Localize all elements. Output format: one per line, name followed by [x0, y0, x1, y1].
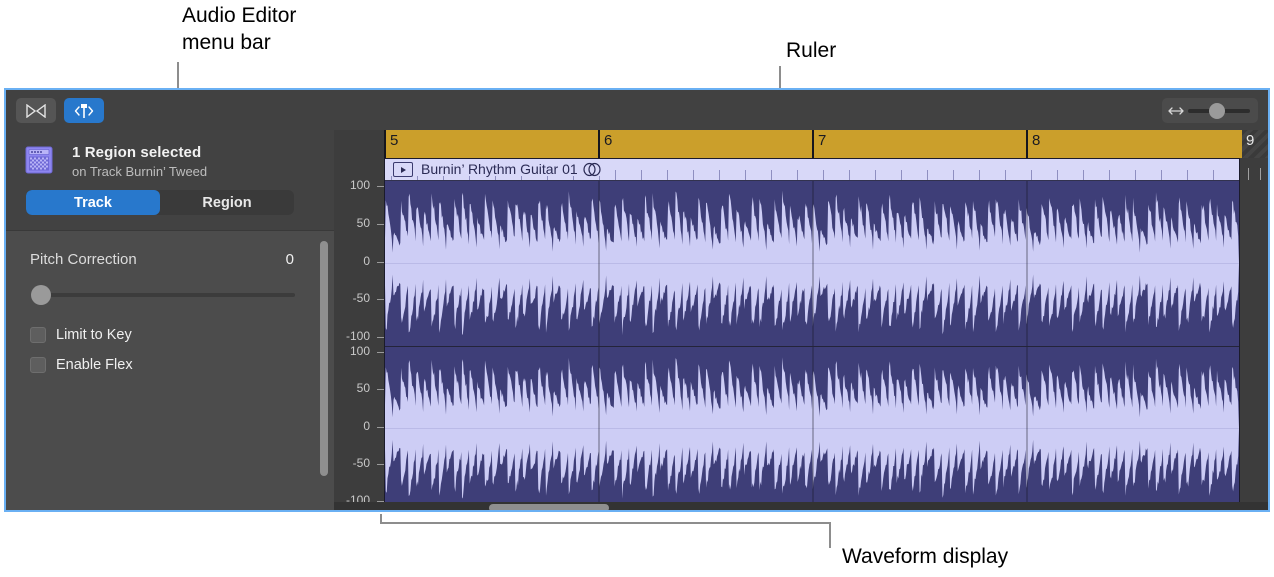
region-header-tick: [875, 170, 876, 181]
enable-flex-checkbox[interactable]: [30, 357, 46, 373]
callout-ruler: Ruler: [786, 37, 836, 64]
horizontal-scrollbar-thumb[interactable]: [489, 504, 609, 512]
region-header-tick: [693, 170, 694, 181]
amplitude-tick-mark: [377, 337, 384, 338]
ruler-bar-number: 5: [390, 132, 398, 149]
waveform-display: 56789 100500-50-100100500-50-100 Burnin’…: [334, 130, 1268, 512]
limit-to-key-row[interactable]: Limit to Key: [30, 327, 132, 343]
ruler-bar-number: 9: [1246, 132, 1254, 149]
tick-mark: [1248, 168, 1249, 180]
amplitude-tick-mark: [377, 262, 384, 263]
region-header-tick: [771, 170, 772, 181]
region-header-tick: [1005, 170, 1006, 181]
amplitude-tick-mark: [377, 389, 384, 390]
leader-line-menu-bar: [177, 62, 179, 90]
region-header-tick: [823, 170, 824, 181]
tab-region[interactable]: Region: [160, 190, 294, 215]
enable-flex-label: Enable Flex: [56, 357, 133, 373]
ruler-bar-marker: 5: [384, 130, 386, 158]
horizontal-zoom-slider[interactable]: [1162, 98, 1258, 123]
horizontal-scrollbar[interactable]: [334, 502, 1268, 512]
region-header-tick: [719, 170, 720, 181]
callout-menu-bar: Audio Editor menu bar: [182, 2, 296, 56]
region-name: Burnin’ Rhythm Guitar 01: [421, 161, 578, 177]
waveform-path: [385, 191, 1239, 336]
waveform-canvas[interactable]: Burnin’ Rhythm Guitar 01: [384, 158, 1268, 512]
region-header-tick: [745, 170, 746, 181]
flex-marker-icon: [72, 103, 96, 119]
selection-title: 1 Region selected: [72, 144, 201, 161]
region-header-tick: [1057, 170, 1058, 181]
amplitude-tick-label: 100: [350, 178, 370, 192]
amplitude-tick-label: 0: [363, 419, 370, 433]
zoom-slider-track[interactable]: [1188, 109, 1250, 113]
amplitude-tick-label: 50: [357, 216, 370, 230]
region-header-tick: [1109, 170, 1110, 181]
amplitude-tick-mark: [377, 299, 384, 300]
region-header-tick: [901, 170, 902, 181]
region-header-tick: [615, 170, 616, 181]
bowtie-icon: [25, 104, 47, 118]
amplitude-tick-label: -50: [353, 456, 370, 470]
guitar-amp-icon: [22, 143, 56, 177]
ruler-bar-number: 7: [818, 132, 826, 149]
inspector-header: 1 Region selected on Track Burnin’ Tweed…: [6, 130, 334, 230]
track-region-segmented-control[interactable]: Track Region: [26, 190, 294, 215]
ruler-bar-marker: 6: [598, 130, 600, 158]
waveform-right-svg: [385, 347, 1239, 510]
bowtie-icon-button[interactable]: [16, 98, 56, 123]
region-header[interactable]: Burnin’ Rhythm Guitar 01: [385, 159, 1239, 181]
zoom-slider-knob[interactable]: [1209, 103, 1225, 119]
region-header-tick: [797, 170, 798, 181]
region-header-tick: [1135, 170, 1136, 181]
inspector-panel: 1 Region selected on Track Burnin’ Tweed…: [6, 130, 334, 510]
amplitude-tick-mark: [377, 427, 384, 428]
region-header-tick: [1031, 170, 1032, 181]
pitch-correction-slider-track[interactable]: [39, 293, 295, 297]
amplitude-tick-label: 0: [363, 254, 370, 268]
amplitude-tick-label: 50: [357, 381, 370, 395]
region-header-tick: [667, 170, 668, 181]
region-header-tick: [953, 170, 954, 181]
enable-flex-row[interactable]: Enable Flex: [30, 357, 133, 373]
amplitude-tick-mark: [377, 224, 384, 225]
bracket-tip-left: [380, 514, 382, 523]
region-header-tick: [927, 170, 928, 181]
amplitude-tick-mark: [377, 464, 384, 465]
region-header-tick: [979, 170, 980, 181]
stereo-icon: [581, 162, 603, 177]
amplitude-tick-label: -100: [346, 329, 370, 343]
limit-to-key-checkbox[interactable]: [30, 327, 46, 343]
audio-editor-menu-bar: [6, 90, 1268, 130]
pitch-correction-slider-knob[interactable]: [31, 285, 51, 305]
region-header-tick: [641, 170, 642, 181]
ruler-tail: 9: [1242, 130, 1268, 158]
horizontal-resize-icon: [1168, 103, 1184, 119]
amplitude-tick-label: 100: [350, 344, 370, 358]
region-header-tick: [1161, 170, 1162, 181]
amplitude-tick-label: -50: [353, 291, 370, 305]
audio-region[interactable]: Burnin’ Rhythm Guitar 01: [384, 158, 1240, 510]
inspector-body: Pitch Correction 0 Limit to Key Enable F…: [6, 230, 334, 510]
flex-marker-icon-button[interactable]: [64, 98, 104, 123]
pitch-correction-value: 0: [286, 251, 294, 268]
region-trailing-strip: [1240, 158, 1268, 510]
pitch-correction-slider[interactable]: [31, 285, 295, 305]
inspector-scrollbar-thumb[interactable]: [320, 241, 328, 476]
region-header-tick: [1083, 170, 1084, 181]
waveform-channel-left: [385, 181, 1239, 346]
play-icon[interactable]: [393, 162, 413, 177]
selection-subtitle: on Track Burnin’ Tweed: [72, 164, 207, 179]
ruler-bar-marker: 8: [1026, 130, 1028, 158]
ruler-bar-number: 8: [1032, 132, 1040, 149]
amplitude-tick-mark: [377, 352, 384, 353]
region-header-tick: [1213, 170, 1214, 181]
limit-to-key-label: Limit to Key: [56, 327, 132, 343]
pitch-correction-label: Pitch Correction: [30, 251, 137, 268]
tick-mark: [1260, 168, 1261, 180]
callout-waveform-display: Waveform display: [842, 543, 1008, 570]
amplitude-tick-mark: [377, 186, 384, 187]
tab-track[interactable]: Track: [26, 190, 160, 215]
inspector-vertical-scrollbar[interactable]: [320, 241, 328, 491]
waveform-path: [385, 357, 1239, 499]
ruler-bar-number: 6: [604, 132, 612, 149]
leader-line-waveform-display: [829, 522, 831, 548]
region-header-tick: [849, 170, 850, 181]
waveform-left-svg: [385, 181, 1239, 346]
region-header-tick: [1187, 170, 1188, 181]
amplitude-scale: 100500-50-100100500-50-100: [334, 158, 384, 512]
audio-editor-window: 1 Region selected on Track Burnin’ Tweed…: [4, 88, 1270, 512]
bracket-waveform-display: [380, 522, 830, 524]
ruler[interactable]: 56789: [384, 130, 1268, 158]
waveform-channel-right: [385, 347, 1239, 510]
ruler-bar-marker: 7: [812, 130, 814, 158]
